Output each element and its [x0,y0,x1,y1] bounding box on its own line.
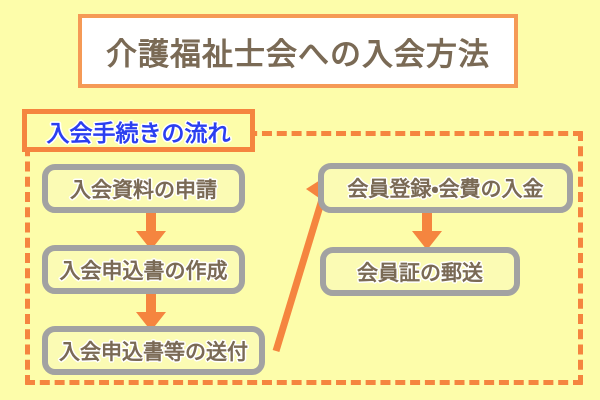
flow-step-box-1: 入会資料の申請 [42,164,245,213]
flow-step-box-4: 会員登録・会費の入金 [318,163,573,213]
flow-step-label-1: 入会資料の申請 [70,174,217,204]
flow-step-box-2: 入会申込書の作成 [42,245,245,294]
flow-step-label-3: 入会申込書等の送付 [59,336,248,366]
flow-step-box-5: 会員証の郵送 [320,247,520,296]
page-title-box: 介護福祉士会への入会方法 [78,14,518,88]
flow-step-label-5: 会員証の郵送 [357,257,483,287]
down-arrow-icon-3 [409,209,445,251]
section-subtitle: 入会手続きの流れ [47,114,231,148]
section-subtitle-box: 入会手続きの流れ [22,109,255,152]
flow-step-label-2: 入会申込書の作成 [60,255,228,285]
page-title: 介護福祉士会への入会方法 [106,29,490,74]
flow-step-box-3: 入会申込書等の送付 [42,326,265,375]
diagram-canvas: 介護福祉士会への入会方法 入会手続きの流れ 入会資料の申請 入会申込書の作成 入… [0,0,600,400]
flow-step-label-4: 会員登録・会費の入金 [347,173,543,203]
